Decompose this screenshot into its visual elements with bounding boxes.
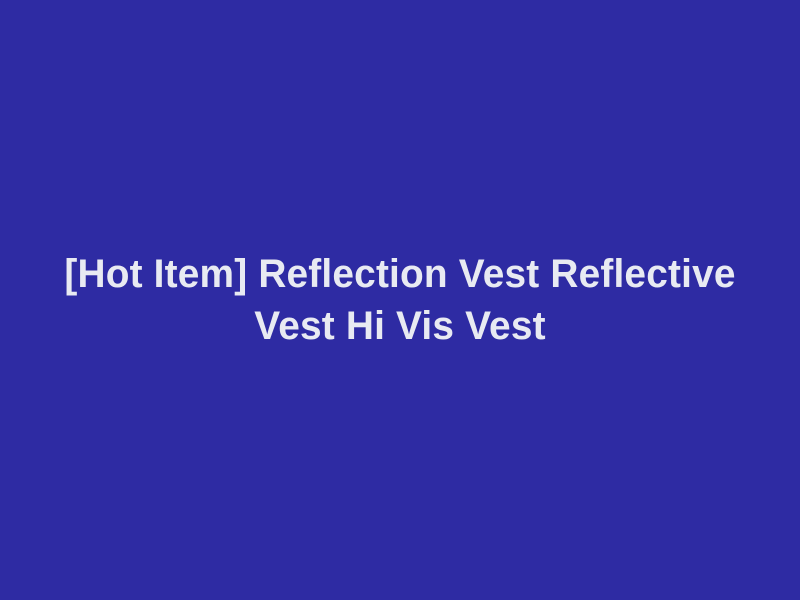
title-block: [Hot Item] Reflection Vest Reflective Ve… — [50, 248, 750, 352]
image-placeholder-card: [Hot Item] Reflection Vest Reflective Ve… — [0, 0, 800, 600]
product-title: [Hot Item] Reflection Vest Reflective Ve… — [61, 248, 740, 352]
